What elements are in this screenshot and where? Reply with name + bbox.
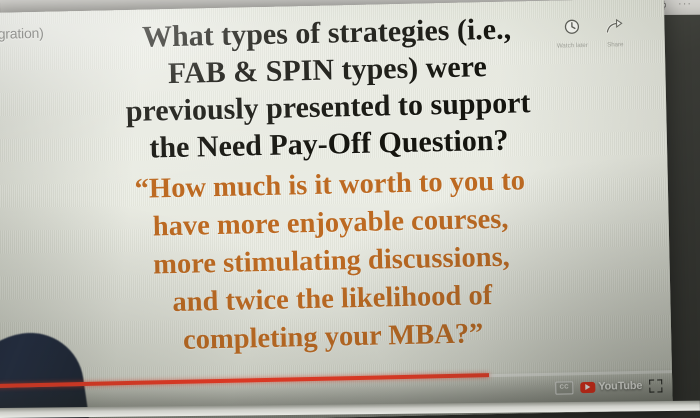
slide-quote-line-3: more stimulating discussions,	[0, 240, 670, 283]
screen-photo: Edit & Create ⌄ Share	[0, 0, 700, 418]
slide-question-line-2: FAB & SPIN types) were	[0, 48, 666, 93]
watch-later-button[interactable]: Watch later	[556, 18, 588, 50]
youtube-wordmark: YouTube	[598, 380, 642, 393]
slide-quote-line-5: completing your MBA?”	[0, 316, 671, 359]
slide-quote-line-4: and twice the likelihood of	[0, 278, 671, 321]
youtube-logo-icon	[580, 381, 595, 392]
video-controls-right: CC YouTube	[551, 372, 667, 401]
video-player-slide[interactable]: What types of strategies (i.e., FAB & SP…	[0, 0, 673, 418]
slide-quote-line-2: have more enjoyable courses,	[0, 202, 669, 245]
share-video-button[interactable]: Share	[605, 17, 625, 48]
fullscreen-icon	[649, 379, 654, 384]
closed-captions-button[interactable]: CC	[555, 381, 573, 394]
background-page-text: tegration)	[0, 25, 44, 42]
slide-question-line-3: previously presented to support	[0, 85, 666, 130]
slide-quote-line-1: “How much is it worth to you to	[0, 164, 668, 207]
youtube-logo-button[interactable]: YouTube	[580, 380, 642, 393]
watch-later-label: Watch later	[557, 42, 588, 50]
toolbar-more-options-button[interactable]: ···	[678, 0, 692, 12]
fullscreen-button[interactable]	[649, 379, 662, 392]
share-video-label: Share	[607, 41, 624, 48]
video-hover-overlays: Watch later Share	[556, 17, 625, 49]
slide-text-block: What types of strategies (i.e., FAB & SP…	[0, 0, 673, 418]
share-arrow-icon	[605, 17, 624, 39]
clock-icon	[563, 18, 580, 40]
slide-question-line-4: the Need Pay-Off Question?	[0, 122, 667, 167]
